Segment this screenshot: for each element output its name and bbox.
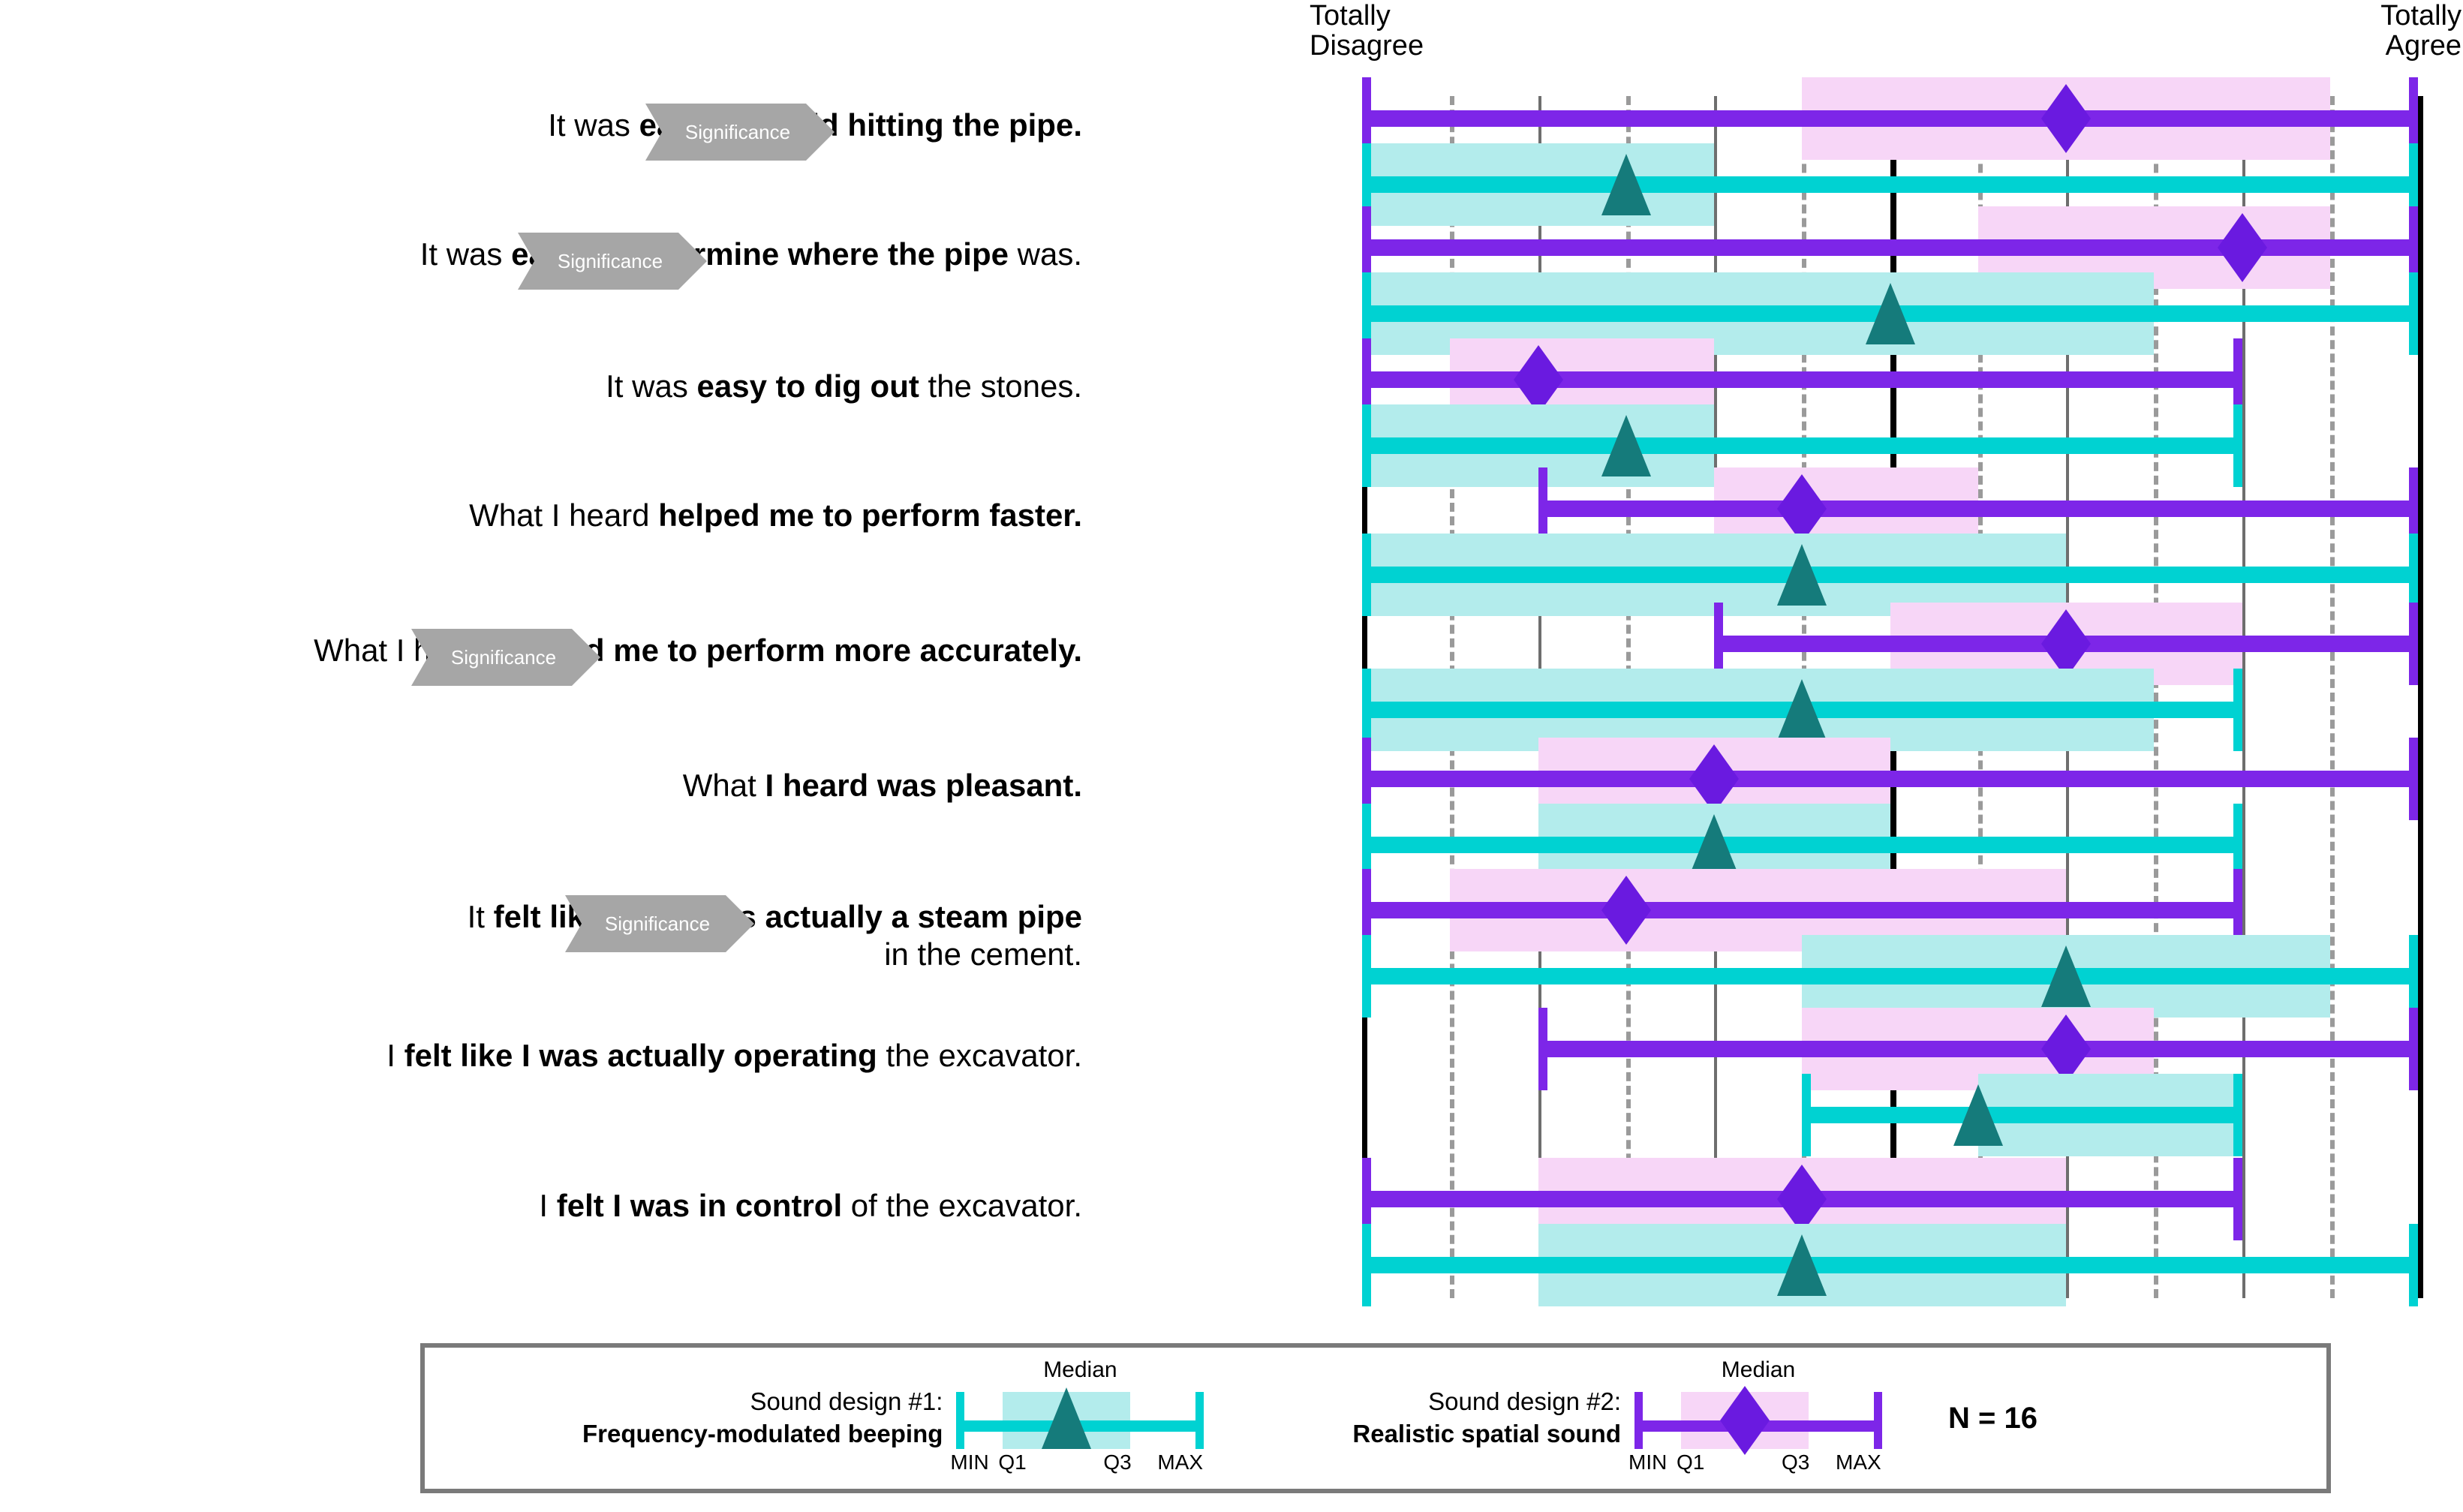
boxplot-sound-design-1 [1362,621,2418,771]
significance-badge: Significance [411,629,600,686]
boxplot-min-cap [1802,1074,1811,1156]
legend-series-2-median-label: Median [1634,1357,1882,1383]
boxplot-median-marker [1777,544,1827,606]
legend-series-1-text: Sound design #1: Frequency-modulated bee… [582,1386,943,1450]
boxplot-row [1362,1177,2418,1327]
legend-series-1-line1: Sound design #1: [582,1386,943,1418]
legend-series-1-median-label: Median [956,1357,1204,1383]
legend-series-2: Sound design #2: Realistic spatial sound… [1352,1362,1896,1474]
boxplot-min-cap [1362,935,1371,1018]
legend-series-1-max-cap [1195,1392,1204,1449]
boxplot-whisker [1362,176,2418,193]
boxplot-max-cap [2409,1224,2418,1306]
boxplot-median-marker [1777,679,1827,741]
legend-series-2-q1-label: Q1 [1677,1450,1704,1474]
significance-badge: Significance [565,895,754,952]
boxplot-median-marker [1601,415,1651,476]
legend-series-2-line2: Realistic spatial sound [1352,1418,1621,1450]
axis-right-label: Totally Agree [2334,2,2461,62]
legend-series-1-min-label: MIN [950,1450,988,1474]
legend-series-2-min-label: MIN [1628,1450,1667,1474]
legend-series-2-boxplot: Median MIN Q1 Q3 MAX [1634,1362,1882,1474]
boxplot-median-marker [1601,154,1651,215]
question-label-line2: in the cement. [468,936,1082,973]
boxplot-row [1362,621,2418,771]
legend-panel: Sound design #1: Frequency-modulated bee… [420,1343,2331,1493]
boxplot-max-cap [2233,1074,2242,1156]
question-label-line1: It felt like there was actually a steam … [468,898,1082,936]
boxplot-max-cap [2233,404,2242,487]
legend-series-1-min-cap [956,1392,964,1449]
legend-series-1-median-marker [1042,1387,1091,1449]
axis-left-label: Totally Disagree [1310,2,1424,62]
legend-series-2-line1: Sound design #2: [1352,1386,1621,1418]
question-label: I felt like I was actually operating the… [386,1037,1082,1075]
sample-size-label: N = 16 [1948,1402,2037,1435]
boxplot-whisker [1362,1257,2418,1273]
boxplot-max-cap [2409,272,2418,355]
legend-series-1: Sound design #1: Frequency-modulated bee… [582,1362,1217,1474]
boxplot-median-marker [1689,814,1739,876]
boxplot-whisker [1362,837,2242,853]
boxplot-sound-design-1 [1362,1177,2418,1327]
axis-line [2418,96,2423,1298]
question-label: It felt like there was actually a steam … [468,898,1082,972]
legend-series-2-min-cap [1634,1392,1643,1449]
legend-series-2-q3-label: Q3 [1782,1450,1809,1474]
question-label: What I heard was pleasant. [683,767,1082,804]
boxplot-whisker [1362,437,2242,454]
question-label: I felt I was in control of the excavator… [539,1187,1082,1225]
legend-series-2-text: Sound design #2: Realistic spatial sound [1352,1386,1621,1450]
boxplot-min-cap [1362,1224,1371,1306]
significance-badge: Significance [518,233,707,290]
boxplot-median-marker [1953,1084,2003,1146]
boxplot-median-marker [1777,1234,1827,1296]
significance-badge: Significance [645,104,835,161]
boxplot-median-marker [1866,283,1915,344]
boxplot-whisker [1362,968,2418,984]
boxplot-whisker [1802,1107,2242,1123]
boxplot-min-cap [1362,534,1371,616]
legend-series-1-line2: Frequency-modulated beeping [582,1418,943,1450]
boxplot-max-cap [2409,935,2418,1018]
boxplot-min-cap [1362,404,1371,487]
question-label: What I heard helped me to perform faster… [469,497,1082,534]
legend-series-1-max-label: MAX [1157,1450,1203,1474]
boxplot-median-marker [2041,945,2091,1007]
question-label: It was easy to dig out the stones. [606,368,1082,405]
boxplot-sound-design-1 [1362,1027,2418,1177]
boxplot-whisker [1362,567,2418,583]
boxplot-chart-area [1362,96,2418,1298]
legend-series-1-q1-label: Q1 [998,1450,1026,1474]
boxplot-row [1362,1027,2418,1177]
legend-series-2-max-label: MAX [1836,1450,1881,1474]
legend-series-1-q3-label: Q3 [1103,1450,1131,1474]
boxplot-max-cap [2233,669,2242,751]
legend-series-2-max-cap [1874,1392,1882,1449]
question-label: It was easy to determine where the pipe … [420,236,1082,273]
legend-series-1-boxplot: Median MIN Q1 Q3 MAX [956,1362,1204,1474]
